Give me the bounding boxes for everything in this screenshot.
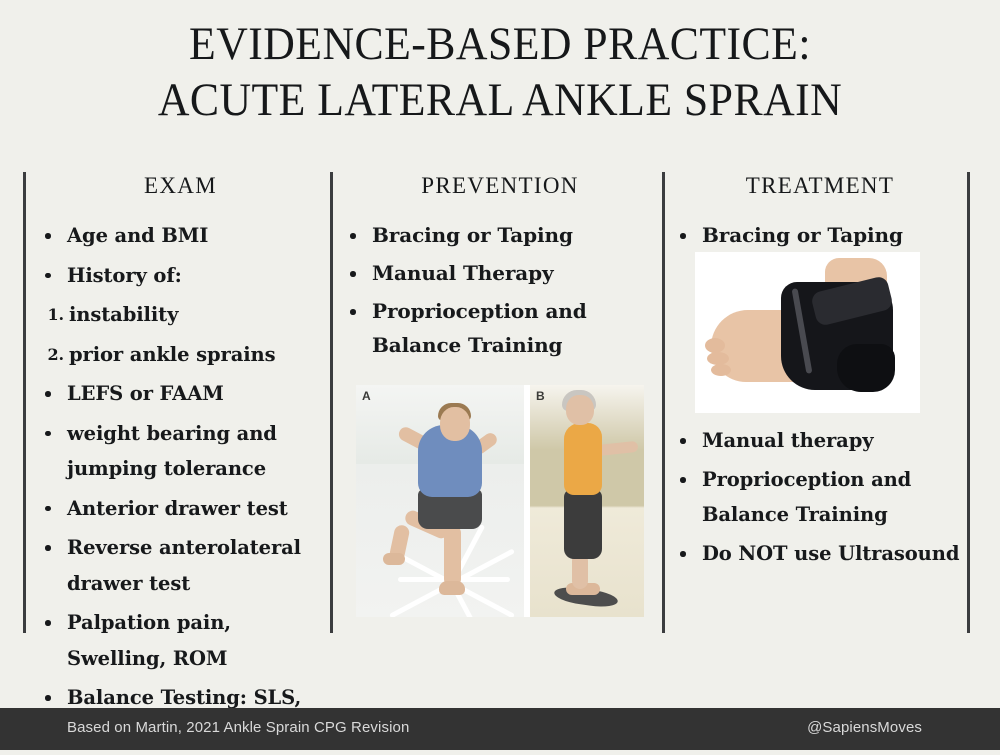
column-divider-right bbox=[967, 172, 970, 633]
list-item-label: Manual therapy bbox=[702, 429, 873, 452]
list-item: Anterior drawer test bbox=[40, 491, 325, 527]
list-item-label: Proprioception and Balance Training bbox=[372, 299, 587, 357]
list-item-label: LEFS or FAAM bbox=[67, 382, 224, 405]
panel-a-label: A bbox=[362, 389, 371, 403]
list-item: Bracing or Taping bbox=[345, 218, 655, 252]
list-item: LEFS or FAAM bbox=[40, 376, 325, 412]
title-line-1: EVIDENCE-BASED PRACTICE: bbox=[35, 16, 965, 72]
list-item: Manual Therapy bbox=[345, 256, 655, 290]
list-item-label: Anterior drawer test bbox=[67, 497, 288, 520]
list-item-label: instability bbox=[69, 297, 178, 333]
list-item-label: Reverse anterolateral drawer test bbox=[67, 536, 301, 595]
title-line-2: ACUTE LATERAL ANKLE SPRAIN bbox=[35, 72, 965, 128]
list-item: weight bearing and jumping tolerance bbox=[40, 416, 325, 487]
list-item-label: Age and BMI bbox=[67, 224, 208, 247]
column-divider-prevention-treatment bbox=[662, 172, 665, 633]
balance-panel-b: B bbox=[530, 385, 644, 617]
balance-panel-a: A bbox=[356, 385, 524, 617]
list-item: Reverse anterolateral drawer test bbox=[40, 530, 325, 601]
list-item-label: prior ankle sprains bbox=[69, 337, 276, 373]
exam-heading: EXAM bbox=[36, 172, 325, 200]
list-item-label: Do NOT use Ultrasound bbox=[702, 542, 959, 565]
brace-heel bbox=[837, 344, 895, 392]
list-item-numbered: 1. instability bbox=[40, 297, 325, 333]
list-item-label: History of: bbox=[67, 264, 182, 287]
figure-b-head bbox=[566, 395, 594, 425]
figure-a-lifted-foot bbox=[383, 553, 405, 565]
panel-b-label: B bbox=[536, 389, 545, 403]
column-treatment: TREATMENT Bracing or Taping bbox=[675, 172, 963, 257]
treatment-list-upper: Bracing or Taping bbox=[675, 218, 963, 253]
column-prevention: PREVENTION Bracing or Taping Manual Ther… bbox=[345, 172, 655, 366]
exam-list: Age and BMI History of: 1. instability 2… bbox=[40, 218, 325, 751]
footer-bar: Based on Martin, 2021 Ankle Sprain CPG R… bbox=[0, 708, 1000, 750]
list-item: History of: bbox=[40, 258, 325, 294]
column-exam: EXAM Age and BMI History of: 1. instabil… bbox=[40, 172, 325, 755]
footer-citation: Based on Martin, 2021 Ankle Sprain CPG R… bbox=[67, 719, 409, 736]
prevention-heading: PREVENTION bbox=[345, 172, 655, 200]
figure-b-torso bbox=[564, 423, 602, 495]
toe bbox=[705, 338, 725, 353]
figure-a-stance-foot bbox=[439, 581, 465, 595]
column-divider-exam-prevention bbox=[330, 172, 333, 633]
treatment-list-lower: Manual therapy Proprioception and Balanc… bbox=[675, 423, 963, 571]
list-item: Age and BMI bbox=[40, 218, 325, 254]
list-item: Bracing or Taping bbox=[675, 218, 963, 253]
list-item-label: Bracing or Taping bbox=[702, 223, 903, 247]
toe bbox=[707, 352, 729, 365]
list-item-label: Palpation pain, Swelling, ROM bbox=[67, 611, 231, 670]
list-item-numbered: 2. prior ankle sprains bbox=[40, 337, 325, 373]
column-treatment-lower: Manual therapy Proprioception and Balanc… bbox=[675, 423, 963, 575]
list-item-label: Bracing or Taping bbox=[372, 223, 573, 247]
treatment-heading: TREATMENT bbox=[677, 172, 963, 200]
list-item: Do NOT use Ultrasound bbox=[675, 536, 963, 571]
list-item-label: Manual Therapy bbox=[372, 261, 554, 285]
figure-a-head bbox=[440, 407, 470, 441]
list-item-number: 1. bbox=[40, 297, 64, 332]
footer-handle: @SapiensMoves bbox=[807, 719, 922, 736]
list-item: Proprioception and Balance Training bbox=[345, 294, 655, 362]
list-item-label: weight bearing and jumping tolerance bbox=[67, 422, 277, 481]
prevention-list: Bracing or Taping Manual Therapy Proprio… bbox=[345, 218, 655, 362]
figure-b-pants bbox=[564, 489, 602, 559]
ankle-brace-photo bbox=[695, 252, 920, 413]
figure-a-stance-leg bbox=[444, 525, 461, 587]
balance-training-illustration: A B bbox=[356, 385, 644, 617]
list-item-number: 2. bbox=[40, 337, 64, 372]
list-item-label: Proprioception and Balance Training bbox=[702, 468, 911, 526]
column-divider-left bbox=[23, 172, 26, 633]
page-title: EVIDENCE-BASED PRACTICE: ACUTE LATERAL A… bbox=[0, 16, 1000, 128]
list-item: Palpation pain, Swelling, ROM bbox=[40, 605, 325, 676]
list-item: Proprioception and Balance Training bbox=[675, 462, 963, 532]
toe bbox=[711, 364, 731, 376]
list-item: Manual therapy bbox=[675, 423, 963, 458]
